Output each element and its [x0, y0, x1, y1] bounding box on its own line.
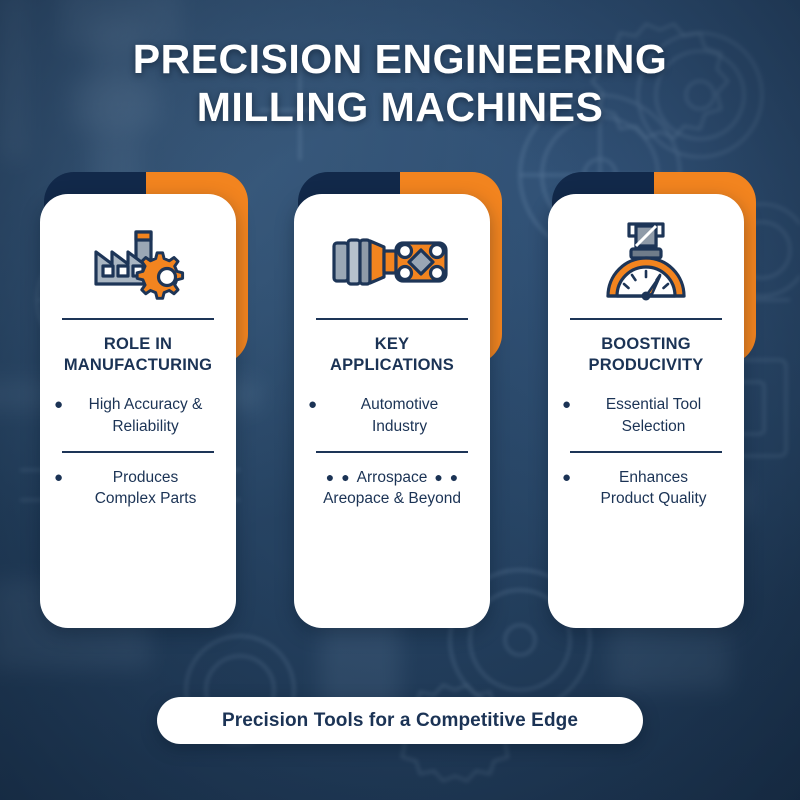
page-title-line1: PRECISION ENGINEERING [133, 36, 667, 82]
bullet-item: ● Enhances Product Quality [560, 467, 732, 510]
card-body: ROLE IN MANUFACTURING ● High Accuracy & … [40, 194, 236, 628]
bullet-divider [570, 451, 722, 453]
card-bullet-list: ● Essential Tool Selection ● Enhances Pr… [560, 394, 732, 510]
page-title-line2: MILLING MACHINES [0, 84, 800, 132]
gauge-clamp-icon [598, 218, 694, 306]
card-heading: BOOSTING PRODUCIVITY [589, 334, 704, 376]
bullet-dot-icon: ● [308, 395, 317, 416]
bullet-dot-icon: ● [341, 468, 349, 487]
card-row: ROLE IN MANUFACTURING ● High Accuracy & … [40, 172, 760, 628]
card-heading: ROLE IN MANUFACTURING [64, 334, 212, 376]
card-heading-line2: PRODUCIVITY [589, 356, 704, 374]
card-heading: KEY APPLICATIONS [330, 334, 454, 376]
tagline-text: Precision Tools for a Competitive Edge [222, 710, 578, 732]
bullet-line1: Automotive [323, 394, 476, 415]
bullet-dot-icon: ● [434, 468, 442, 487]
bullet-line1: Enhances [577, 467, 730, 488]
bullet-text: High Accuracy & Reliability [69, 394, 222, 437]
bullet-line2: Complex Parts [69, 488, 222, 509]
card-icon-container [86, 212, 190, 312]
bullet-text: ● ● Arrospace ● ● Areopace & Beyond [306, 467, 478, 510]
bullet-line2: Reliability [69, 416, 222, 437]
page-title: PRECISION ENGINEERING MILLING MACHINES [0, 36, 800, 131]
bullet-divider [62, 451, 214, 453]
bullet-text: Produces Complex Parts [69, 467, 222, 510]
bullet-dot-icon: ● [562, 395, 571, 416]
card-body: KEY APPLICATIONS ● Automotive Industry [294, 194, 490, 628]
bullet-item: ● High Accuracy & Reliability [52, 394, 224, 437]
bullet-line1-row: ● ● Arrospace ● ● [306, 467, 478, 488]
card-divider-top [62, 318, 214, 320]
bullet-text: Essential Tool Selection [577, 394, 730, 437]
bullet-dot-icon: ● [326, 468, 334, 487]
factory-gear-icon [86, 222, 190, 302]
bullet-dot-icon: ● [54, 468, 63, 489]
card-heading-line1: ROLE IN [104, 335, 172, 353]
bullet-divider [316, 451, 468, 453]
card-role-in-manufacturing[interactable]: ROLE IN MANUFACTURING ● High Accuracy & … [40, 172, 252, 628]
tagline-banner[interactable]: Precision Tools for a Competitive Edge [157, 697, 643, 744]
bullet-dot-icon: ● [562, 468, 571, 489]
card-heading-line1: BOOSTING [601, 335, 691, 353]
card-heading-line1: KEY [375, 335, 410, 353]
card-heading-line2: MANUFACTURING [64, 356, 212, 374]
bullet-line2: Selection [577, 416, 730, 437]
card-divider-top [570, 318, 722, 320]
bullet-line1: Produces [69, 467, 222, 488]
card-key-applications[interactable]: KEY APPLICATIONS ● Automotive Industry [294, 172, 506, 628]
bullet-item: ● Automotive Industry [306, 394, 478, 437]
bullet-line2: Industry [323, 416, 476, 437]
bullet-line1: Arrospace [357, 467, 428, 488]
bullet-line1: High Accuracy & [69, 394, 222, 415]
infographic-canvas: PRECISION ENGINEERING MILLING MACHINES [0, 0, 800, 800]
bullet-item: ● Produces Complex Parts [52, 467, 224, 510]
card-bullet-list: ● Automotive Industry ● ● Arrospace ● [306, 394, 478, 510]
bullet-line1: Essential Tool [577, 394, 730, 415]
card-boosting-productivity[interactable]: BOOSTING PRODUCIVITY ● Essential Tool Se… [548, 172, 760, 628]
bullet-dot-icon: ● [54, 395, 63, 416]
card-icon-container [330, 212, 454, 312]
bullet-item: ● Essential Tool Selection [560, 394, 732, 437]
card-heading-line2: APPLICATIONS [330, 356, 454, 374]
bullet-dot-icon: ● [450, 468, 458, 487]
tool-holder-flange-icon [330, 229, 454, 295]
card-bullet-list: ● High Accuracy & Reliability ● Produces… [52, 394, 224, 510]
bullet-line2: Areopace & Beyond [306, 488, 478, 509]
bullet-line2: Product Quality [577, 488, 730, 509]
card-icon-container [598, 212, 694, 312]
bullet-text: Automotive Industry [323, 394, 476, 437]
bullet-text: Enhances Product Quality [577, 467, 730, 510]
card-body: BOOSTING PRODUCIVITY ● Essential Tool Se… [548, 194, 744, 628]
card-divider-top [316, 318, 468, 320]
